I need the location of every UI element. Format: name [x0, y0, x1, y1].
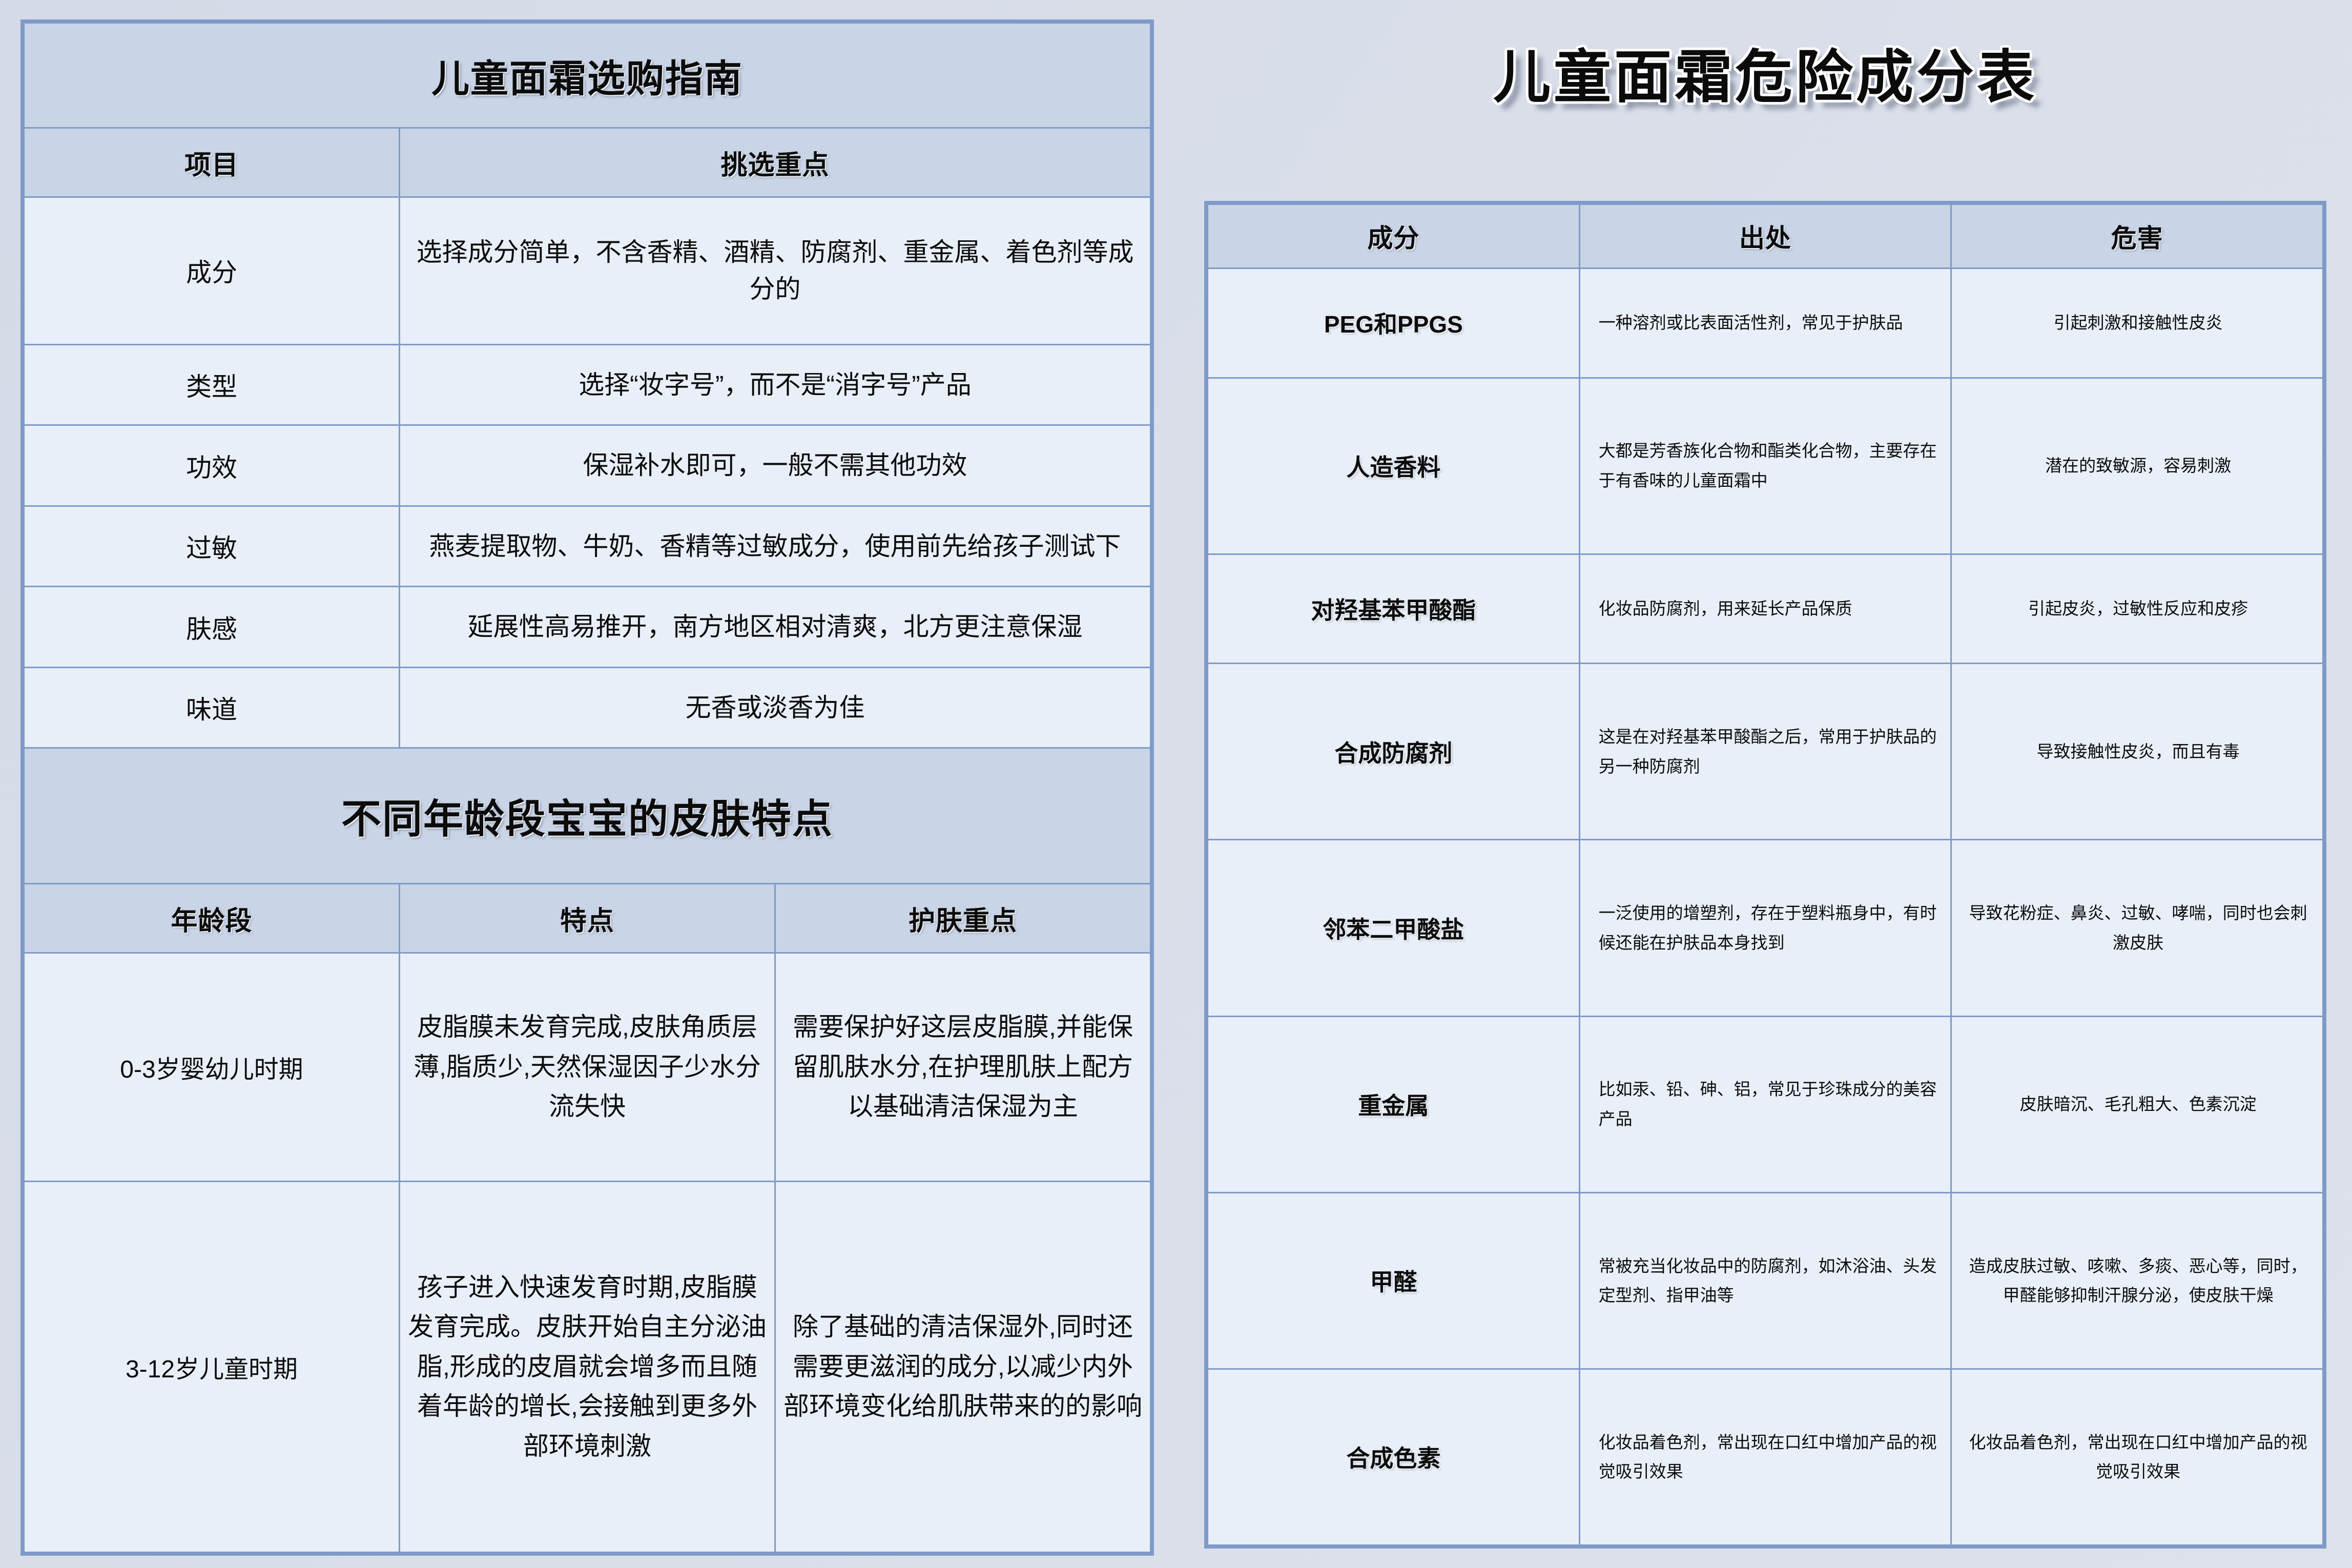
table-row: 重金属 比如汞、铅、砷、铝，常见于珍珠成分的美容产品 皮肤暗沉、毛孔粗大、色素沉… [1208, 1016, 2323, 1192]
danger-ingredient-4: 邻苯二甲酸盐 [1208, 840, 1580, 1016]
danger-ingredients-panel: 成分 出处 危害 PEG和PPGS 一种溶剂或比表面活性剂，常见于护肤品 引起刺… [1204, 201, 2326, 1549]
guide-point-1: 选择“妆字号”，而不是“消字号”产品 [400, 344, 1151, 425]
guide-title-row: 儿童面霜选购指南 [24, 23, 1151, 128]
table-row: PEG和PPGS 一种溶剂或比表面活性剂，常见于护肤品 引起刺激和接触性皮炎 [1208, 269, 2323, 378]
danger-source-1: 大都是芳香族化合物和酯类化合物，主要存在于有香味的儿童面霜中 [1579, 378, 1951, 554]
danger-harm-0: 引起刺激和接触性皮炎 [1951, 269, 2323, 378]
danger-header-harm: 危害 [1951, 204, 2323, 269]
danger-ingredient-1: 人造香料 [1208, 378, 1580, 554]
guide-item-0: 成分 [24, 197, 400, 345]
table-row: 甲醛 常被充当化妆品中的防腐剂，如沐浴油、头发定型剂、指甲油等 造成皮肤过敏、咳… [1208, 1192, 2323, 1369]
guide-point-5: 无香或淡香为佳 [400, 667, 1151, 748]
age-feature-0: 皮脂膜未发育完成,皮肤角质层薄,脂质少,天然保湿因子少水分流失快 [400, 953, 775, 1181]
age-label-1: 3-12岁儿童时期 [24, 1181, 400, 1552]
danger-ingredient-2: 对羟基苯甲酸酯 [1208, 554, 1580, 664]
age-care-1: 除了基础的清洁保湿外,同时还需要更滋润的成分,以减少内外部环境变化给肌肤带来的的… [775, 1181, 1151, 1552]
table-row: 过敏 燕麦提取物、牛奶、香精等过敏成分，使用前先给孩子测试下 [24, 506, 1151, 586]
danger-ingredient-5: 重金属 [1208, 1016, 1580, 1192]
age-header-care: 护肤重点 [775, 884, 1151, 953]
guide-header-row: 项目 挑选重点 [24, 128, 1151, 197]
danger-ingredient-3: 合成防腐剂 [1208, 664, 1580, 840]
danger-harm-7: 化妆品着色剂，常出现在口红中增加产品的视觉吸引效果 [1951, 1369, 2323, 1545]
danger-harm-3: 导致接触性皮炎，而且有毒 [1951, 664, 2323, 840]
table-row: 对羟基苯甲酸酯 化妆品防腐剂，用来延长产品保质 引起皮炎，过敏性反应和皮疹 [1208, 554, 2323, 664]
guide-title: 儿童面霜选购指南 [24, 23, 1151, 128]
table-row: 类型 选择“妆字号”，而不是“消字号”产品 [24, 344, 1151, 425]
guide-header-item: 项目 [24, 128, 400, 197]
guide-item-3: 过敏 [24, 506, 400, 586]
danger-source-7: 化妆品着色剂，常出现在口红中增加产品的视觉吸引效果 [1579, 1369, 1951, 1545]
buying-guide-panel: 儿童面霜选购指南 项目 挑选重点 成分 选择成分简单，不含香精、酒精、防腐剂、重… [20, 19, 1154, 1556]
age-care-0: 需要保护好这层皮脂膜,并能保留肌肤水分,在护理肌肤上配方以基础清洁保湿为主 [775, 953, 1151, 1181]
table-row: 味道 无香或淡香为佳 [24, 667, 1151, 748]
guide-item-1: 类型 [24, 344, 400, 425]
danger-source-2: 化妆品防腐剂，用来延长产品保质 [1579, 554, 1951, 664]
danger-ingredient-0: PEG和PPGS [1208, 269, 1580, 378]
age-header-feature: 特点 [400, 884, 775, 953]
danger-ingredient-7: 合成色素 [1208, 1369, 1580, 1545]
table-row: 邻苯二甲酸盐 一泛使用的增塑剂，存在于塑料瓶身中，有时候还能在护肤品本身找到 导… [1208, 840, 2323, 1016]
danger-ingredients-table: 成分 出处 危害 PEG和PPGS 一种溶剂或比表面活性剂，常见于护肤品 引起刺… [1207, 203, 2324, 1546]
table-row: 成分 选择成分简单，不含香精、酒精、防腐剂、重金属、着色剂等成分的 [24, 197, 1151, 345]
guide-item-4: 肤感 [24, 587, 400, 667]
danger-harm-2: 引起皮炎，过敏性反应和皮疹 [1951, 554, 2323, 664]
age-label-0: 0-3岁婴幼儿时期 [24, 953, 400, 1181]
table-row: 合成色素 化妆品着色剂，常出现在口红中增加产品的视觉吸引效果 化妆品着色剂，常出… [1208, 1369, 2323, 1545]
danger-source-4: 一泛使用的增塑剂，存在于塑料瓶身中，有时候还能在护肤品本身找到 [1579, 840, 1951, 1016]
age-skin-header-row: 年龄段 特点 护肤重点 [24, 884, 1151, 953]
guide-header-point: 挑选重点 [400, 128, 1151, 197]
danger-source-3: 这是在对羟基苯甲酸酯之后，常用于护肤品的另一种防腐剂 [1579, 664, 1951, 840]
guide-point-3: 燕麦提取物、牛奶、香精等过敏成分，使用前先给孩子测试下 [400, 506, 1151, 586]
age-skin-title: 不同年龄段宝宝的皮肤特点 [24, 748, 1151, 884]
left-tables: 儿童面霜选购指南 项目 挑选重点 成分 选择成分简单，不含香精、酒精、防腐剂、重… [23, 22, 1151, 1553]
danger-harm-5: 皮肤暗沉、毛孔粗大、色素沉淀 [1951, 1016, 2323, 1192]
danger-header-row: 成分 出处 危害 [1208, 204, 2323, 269]
danger-source-5: 比如汞、铅、砷、铝，常见于珍珠成分的美容产品 [1579, 1016, 1951, 1192]
danger-header-ingredient: 成分 [1208, 204, 1580, 269]
danger-source-0: 一种溶剂或比表面活性剂，常见于护肤品 [1579, 269, 1951, 378]
danger-source-6: 常被充当化妆品中的防腐剂，如沐浴油、头发定型剂、指甲油等 [1579, 1192, 1951, 1369]
age-skin-title-row: 不同年龄段宝宝的皮肤特点 [24, 748, 1151, 884]
table-row: 合成防腐剂 这是在对羟基苯甲酸酯之后，常用于护肤品的另一种防腐剂 导致接触性皮炎… [1208, 664, 2323, 840]
danger-ingredients-title: 儿童面霜危险成分表 [1204, 31, 2326, 114]
table-row: 肤感 延展性高易推开，南方地区相对清爽，北方更注意保湿 [24, 587, 1151, 667]
guide-point-0: 选择成分简单，不含香精、酒精、防腐剂、重金属、着色剂等成分的 [400, 197, 1151, 345]
guide-point-2: 保湿补水即可，一般不需其他功效 [400, 425, 1151, 506]
table-row: 人造香料 大都是芳香族化合物和酯类化合物，主要存在于有香味的儿童面霜中 潜在的致… [1208, 378, 2323, 554]
danger-harm-1: 潜在的致敏源，容易刺激 [1951, 378, 2323, 554]
age-feature-1: 孩子进入快速发育时期,皮脂膜发育完成。皮肤开始自主分泌油脂,形成的皮眉就会增多而… [400, 1181, 775, 1552]
danger-header-source: 出处 [1579, 204, 1951, 269]
guide-point-4: 延展性高易推开，南方地区相对清爽，北方更注意保湿 [400, 587, 1151, 667]
danger-ingredient-6: 甲醛 [1208, 1192, 1580, 1369]
guide-item-2: 功效 [24, 425, 400, 506]
table-row: 功效 保湿补水即可，一般不需其他功效 [24, 425, 1151, 506]
table-row: 3-12岁儿童时期 孩子进入快速发育时期,皮脂膜发育完成。皮肤开始自主分泌油脂,… [24, 1181, 1151, 1552]
guide-item-5: 味道 [24, 667, 400, 748]
table-row: 0-3岁婴幼儿时期 皮脂膜未发育完成,皮肤角质层薄,脂质少,天然保湿因子少水分流… [24, 953, 1151, 1181]
age-header-age: 年龄段 [24, 884, 400, 953]
danger-harm-6: 造成皮肤过敏、咳嗽、多痰、恶心等，同时，甲醛能够抑制汗腺分泌，使皮肤干燥 [1951, 1192, 2323, 1369]
danger-harm-4: 导致花粉症、鼻炎、过敏、哮喘，同时也会刺激皮肤 [1951, 840, 2323, 1016]
